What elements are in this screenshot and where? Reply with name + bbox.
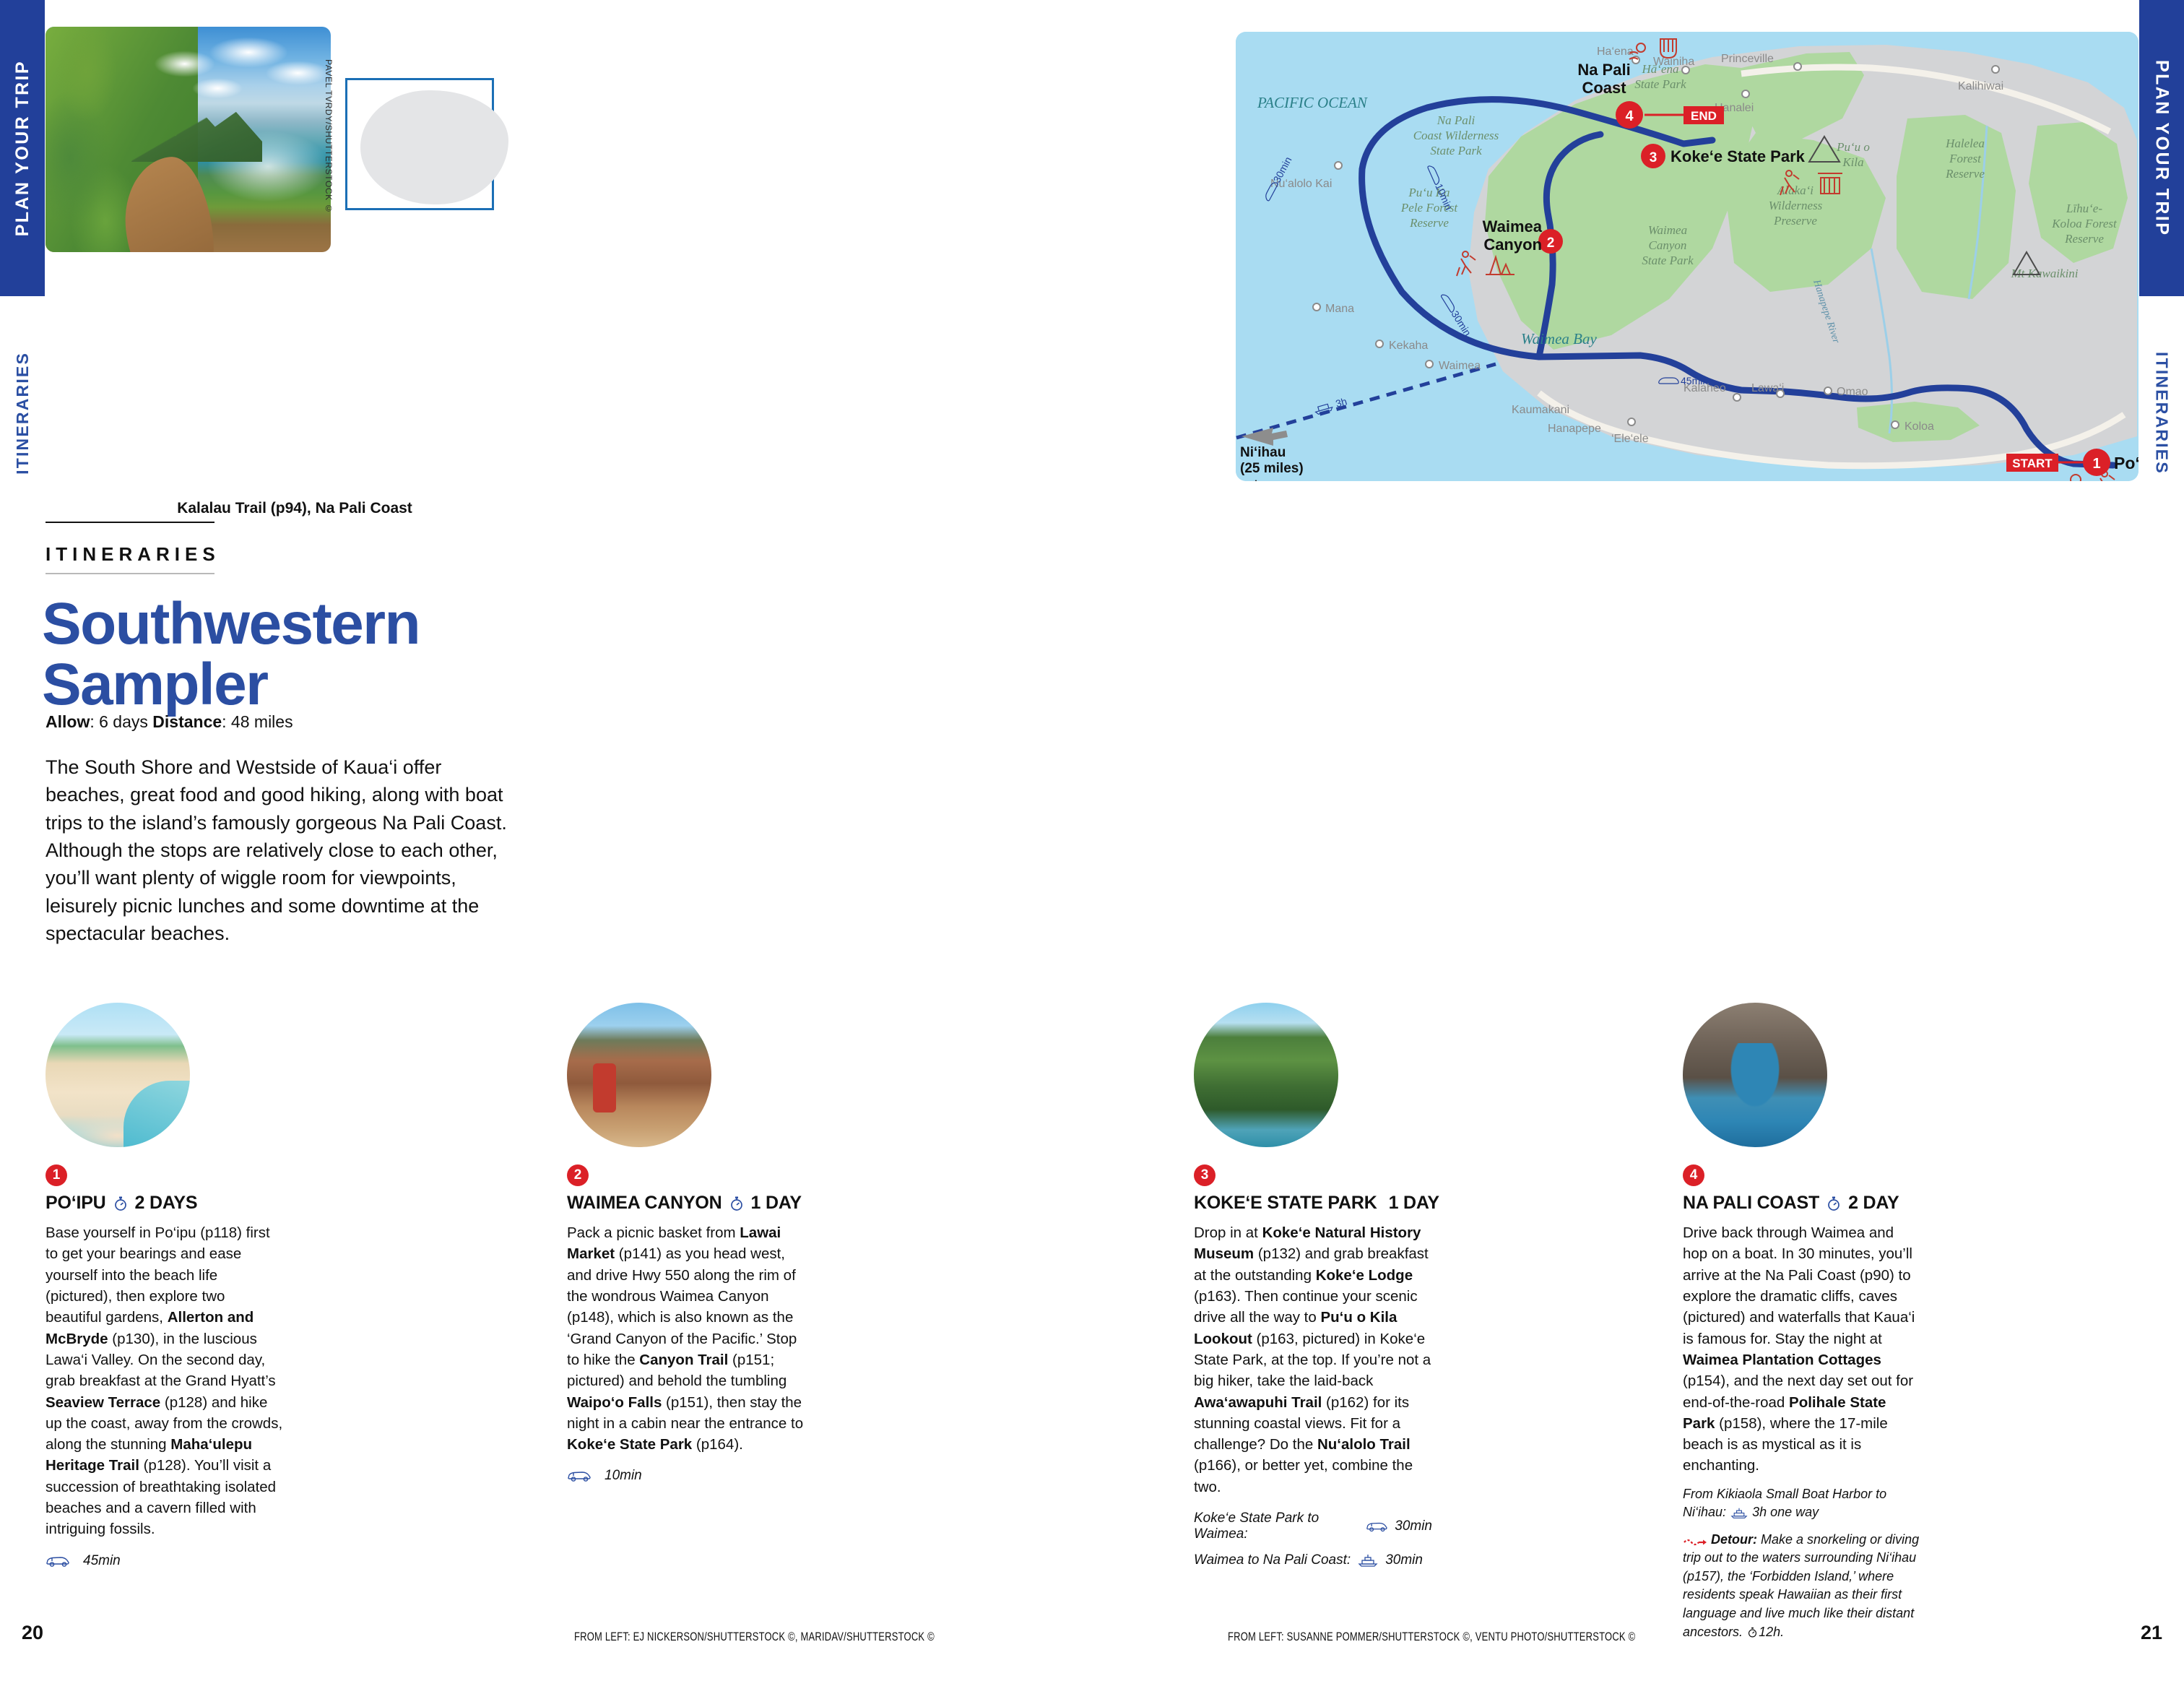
itinerary-body: Drive back through Waimea and hop on a b… [1683,1222,1921,1477]
detour-label: Detour: [1711,1532,1757,1547]
itinerary-travel-time: 45min [45,1553,284,1569]
svg-text:Wainiha: Wainiha [1653,56,1694,68]
svg-text:State Park: State Park [1642,254,1694,267]
itinerary-body: Pack a picnic basket from Lawai Market (… [567,1222,805,1455]
boat-note-value: 3h one way [1752,1505,1819,1519]
itinerary-number-badge: 1 [45,1164,67,1186]
svg-text:Hanapepe: Hanapepe [1548,423,1601,435]
boat-icon [1730,1507,1748,1519]
svg-text:Kaumakani: Kaumakani [1512,404,1569,416]
travel-value: 30min [1385,1552,1423,1568]
svg-text:Canyon: Canyon [1483,235,1542,254]
svg-text:Reserve: Reserve [1945,167,1985,181]
distance-label: Distance [152,712,222,731]
svg-text:‘Ele‘ele: ‘Ele‘ele [1611,433,1649,445]
travel-label: Koke‘e State Park to Waimea: [1194,1511,1359,1542]
page-number-left: 20 [22,1622,43,1644]
map-marker-number: 2 [1547,235,1555,251]
itinerary-duration: 1 DAY [1389,1193,1439,1214]
svg-text:Kekaha: Kekaha [1389,340,1428,352]
svg-text:Reserve: Reserve [1409,216,1449,230]
route-map[interactable]: PACIFIC OCEAN Waimea Bay Hanapepe River … [1236,32,2138,481]
sidebar-tab-itineraries-left[interactable]: ITINERARIES [0,298,45,529]
map-label-pacific-ocean: PACIFIC OCEAN [1257,94,1368,111]
svg-text:Koloa: Koloa [1904,420,1934,433]
page-spread: PLAN YOUR TRIP ITINERARIES PLAN YOUR TRI… [0,0,2184,1681]
hero-photo-kalalau-trail [45,27,331,252]
section-kicker: ITINERARIES [45,543,220,566]
svg-text:Waimea: Waimea [1648,223,1687,237]
svg-text:Princeville: Princeville [1721,53,1774,65]
map-marker-number: 3 [1650,150,1657,165]
sidebar-tab-itineraries-right[interactable]: ITINERARIES [2139,298,2184,529]
itinerary-duration: 1 DAY [751,1193,802,1214]
detour-text: Make a snorkeling or diving trip out to … [1683,1532,1919,1639]
svg-text:Halelea: Halelea [1945,137,1985,150]
sidebar-tab-label: ITINERARIES [2152,352,2172,475]
svg-text:Canyon: Canyon [1649,238,1687,252]
map-marker-number: 1 [2092,456,2100,472]
travel-value: 45min [83,1553,121,1569]
hero-photo-credit: PAVEL TVRDY/SHUTTERSTOCK © [324,59,334,214]
itinerary-title: WAIMEA CANYON [567,1193,722,1214]
svg-text:(25 miles): (25 miles) [1240,461,1304,476]
sidebar-tab-plan-your-trip-left[interactable]: PLAN YOUR TRIP [0,0,45,296]
sidebar-tab-label: ITINERARIES [13,352,32,475]
allow-value: : 6 days [90,712,152,731]
itinerary-heading: KOKE‘E STATE PARK 1 DAY [1194,1193,1432,1214]
map-start-label: START [2012,457,2053,470]
itinerary-detour-note: Detour: Make a snorkeling or diving trip… [1683,1531,1921,1641]
itinerary-number-badge: 2 [567,1164,589,1186]
svg-text:Waimea: Waimea [1439,360,1481,372]
itinerary-item-2: 2 WAIMEA CANYON 1 DAY Pack a picnic bask… [567,1003,805,1484]
itinerary-title: PO‘IPU [45,1193,106,1214]
svg-text:Ha‘ena: Ha‘ena [1597,46,1634,58]
boat-icon [1357,1553,1379,1568]
island-locator-map [345,78,494,210]
island-outline-shape [360,90,508,204]
hero-caption: Kalalau Trail (p94), Na Pali Coast [45,500,544,517]
svg-text:State Park: State Park [1634,77,1686,91]
svg-text:Lawa‘i: Lawa‘i [1751,382,1784,394]
svg-text:Līhu‘e-: Līhu‘e- [2066,202,2102,215]
svg-text:Reserve: Reserve [2064,232,2104,246]
sidebar-tab-plan-your-trip-right[interactable]: PLAN YOUR TRIP [2139,0,2184,296]
svg-text:Coast Wilderness: Coast Wilderness [1413,129,1499,142]
svg-text:Na Pali: Na Pali [1436,113,1475,127]
itinerary-number-badge: 3 [1194,1164,1215,1186]
svg-text:Ni‘ihau: Ni‘ihau [1240,445,1286,460]
svg-text:Omao: Omao [1837,386,1868,398]
itinerary-thumbnail-waimea-canyon [567,1003,711,1147]
svg-text:Coast: Coast [1582,79,1626,97]
car-icon [567,1469,591,1482]
svg-text:Kalihiwai: Kalihiwai [1958,80,2003,92]
travel-value: 10min [604,1468,642,1484]
distance-value: : 48 miles [222,712,292,731]
photo-clouds [148,33,331,110]
itinerary-heading: WAIMEA CANYON 1 DAY [567,1193,805,1214]
itinerary-item-4: 4 NA PALI COAST 2 DAY Drive back through… [1683,1003,1921,1641]
photo-credit-right: FROM LEFT: SUSANNE POMMER/SHUTTERSTOCK ©… [1228,1630,1635,1643]
itinerary-duration: 2 DAYS [135,1193,198,1214]
stopwatch-icon [1746,1626,1759,1638]
stopwatch-icon [1825,1195,1842,1212]
stopwatch-icon [728,1195,745,1212]
page-number-right: 21 [2141,1622,2162,1644]
itinerary-travel-time-drive: Koke‘e State Park to Waimea: 30min [1194,1511,1432,1542]
svg-text:45min: 45min [1681,375,1708,386]
itinerary-duration: 2 DAY [1848,1193,1899,1214]
itinerary-boat-note: From Kikiaola Small Boat Harbor to Ni‘ih… [1683,1485,1921,1522]
map-end-label: END [1691,109,1717,123]
itinerary-travel-time: 10min [567,1468,805,1484]
detour-duration: 12h. [1759,1625,1784,1639]
trip-summary: Allow: 6 days Distance: 48 miles [45,712,293,732]
svg-text:Wilderness: Wilderness [1769,199,1823,212]
map-stop-name-poipu: Po‘ipu [2114,454,2138,472]
svg-text:Mana: Mana [1325,303,1354,315]
photo-credit-left: FROM LEFT: EJ NICKERSON/SHUTTERSTOCK ©, … [574,1630,935,1643]
allow-label: Allow [45,712,90,731]
sidebar-tab-label: PLAN YOUR TRIP [2151,60,2172,236]
itinerary-title: KOKE‘E STATE PARK [1194,1193,1377,1214]
map-label-waimea-bay: Waimea Bay [1521,330,1597,347]
divider-bottom [45,573,214,574]
itinerary-thumbnail-kokee [1194,1003,1338,1147]
sidebar-tab-label: PLAN YOUR TRIP [12,60,33,236]
itinerary-body: Drop in at Koke‘e Natural History Museum… [1194,1222,1432,1498]
itinerary-heading: PO‘IPU 2 DAYS [45,1193,284,1214]
svg-text:Preserve: Preserve [1773,214,1817,228]
svg-text:Forest: Forest [1949,152,1982,165]
itinerary-item-1: 1 PO‘IPU 2 DAYS Base yourself in Po‘ipu … [45,1003,284,1569]
car-icon [45,1555,70,1568]
map-stop-name-waimea-canyon: Waimea [1483,217,1543,235]
svg-text:Koloa Forest: Koloa Forest [2051,217,2118,230]
itinerary-number-badge: 4 [1683,1164,1704,1186]
map-stop-name-kokee-state-park: Koke‘e State Park [1670,147,1806,165]
svg-text:State Park: State Park [1430,144,1482,157]
stopwatch-icon [112,1195,129,1212]
itinerary-title: NA PALI COAST [1683,1193,1819,1214]
itinerary-thumbnail-na-pali-coast [1683,1003,1827,1147]
svg-text:Pu‘u o: Pu‘u o [1836,140,1870,154]
itinerary-heading: NA PALI COAST 2 DAY [1683,1193,1921,1214]
divider-top [45,522,214,523]
travel-label: Waimea to Na Pali Coast: [1194,1552,1351,1568]
detour-arrow-icon [1683,1535,1707,1546]
svg-text:Mt Kawaikini: Mt Kawaikini [2010,267,2078,280]
travel-value: 30min [1395,1518,1432,1534]
itinerary-item-3: 3 KOKE‘E STATE PARK 1 DAY Drop in at Kok… [1194,1003,1432,1568]
page-title: Southwestern Sampler [42,594,591,714]
itinerary-body: Base yourself in Po‘ipu (p118) first to … [45,1222,284,1540]
itinerary-thumbnail-poipu [45,1003,190,1147]
svg-text:Kila: Kila [1842,155,1863,169]
map-stop-name-na-pali-coast: Na Pali [1577,61,1630,79]
car-icon [1366,1520,1388,1533]
intro-paragraph: The South Shore and Westside of Kaua‘i o… [45,753,522,947]
map-marker-number: 4 [1625,108,1634,124]
itinerary-travel-time-boat: Waimea to Na Pali Coast: 30min [1194,1552,1432,1568]
map-svg: PACIFIC OCEAN Waimea Bay Hanapepe River … [1236,32,2138,481]
